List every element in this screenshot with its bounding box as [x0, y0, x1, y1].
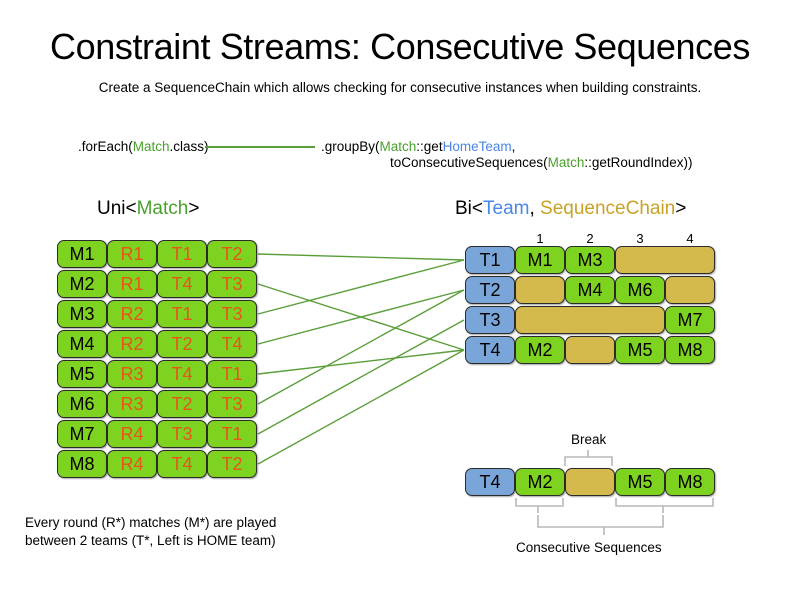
consecutive-brace-right	[616, 498, 713, 513]
brace-annotations	[0, 0, 800, 600]
break-label: Break	[571, 432, 606, 447]
break-brace	[565, 450, 612, 466]
consecutive-sequences-label: Consecutive Sequences	[516, 540, 662, 555]
consecutive-brace-join	[538, 515, 663, 535]
slide-canvas: Constraint Streams: Consecutive Sequence…	[0, 0, 800, 600]
legend-caption: Every round (R*) matches (M*) are played…	[25, 514, 276, 550]
consecutive-brace-left	[516, 498, 563, 513]
